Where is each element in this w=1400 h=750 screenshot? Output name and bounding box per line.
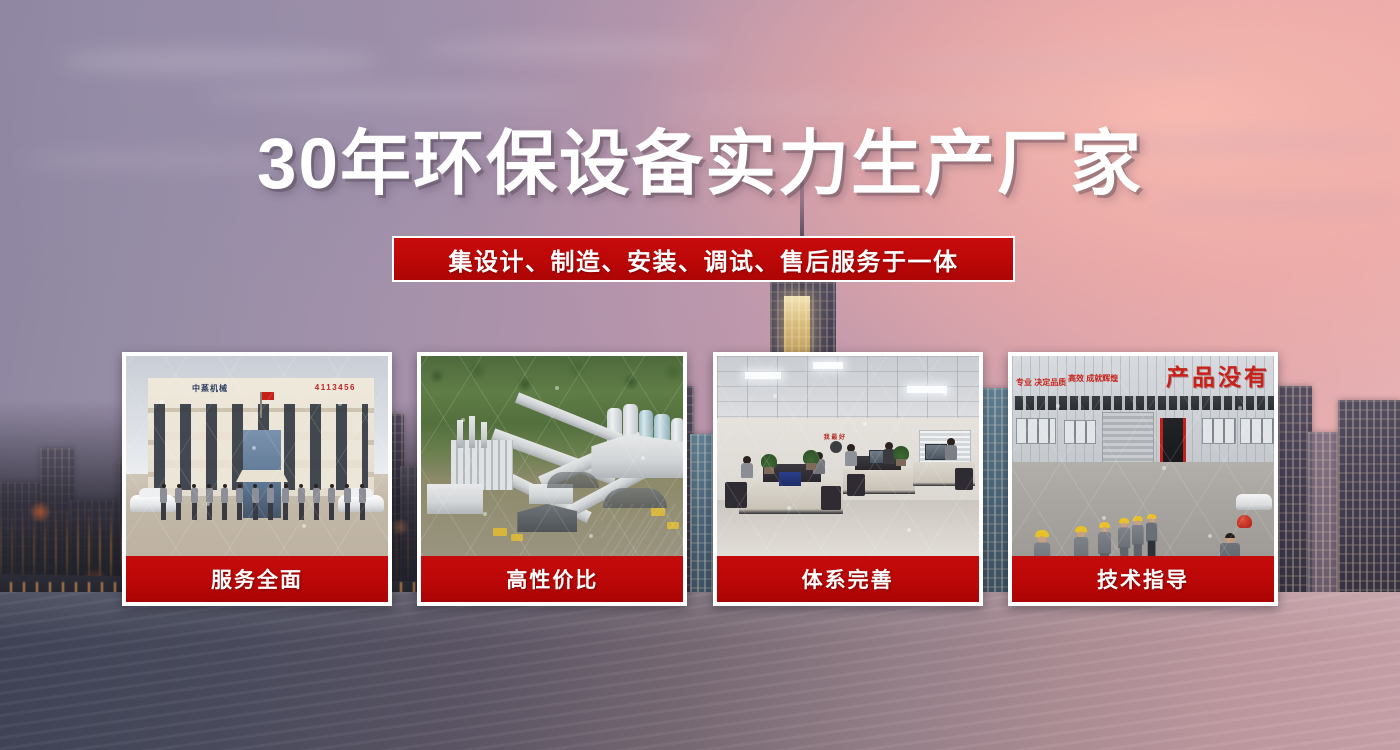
building-signage-text: 中蒸机械 <box>192 383 228 394</box>
subtitle-banner: 集设计、制造、安装、调试、售后服务于一体 <box>392 236 1015 282</box>
card-caption: 体系完善 <box>717 556 979 602</box>
card-caption: 高性价比 <box>421 556 683 602</box>
factory-slogan-right: 高效 成就辉煌 <box>1068 374 1118 384</box>
wall-logo-text: 我 最 好 <box>824 432 845 441</box>
office-interior-photo: 我 最 好 <box>717 356 979 556</box>
page-title: 30年环保设备实力生产厂家 <box>0 126 1400 204</box>
card-caption: 技术指导 <box>1012 556 1274 602</box>
factory-worker-training-photo: 产品没有 专业 决定品质 高效 成就辉煌 <box>1012 356 1274 556</box>
feature-card[interactable]: 产品没有 专业 决定品质 高效 成就辉煌 <box>1008 352 1278 606</box>
feature-card[interactable]: 高性价比 <box>417 352 687 606</box>
promo-banner: 30年环保设备实力生产厂家 集设计、制造、安装、调试、售后服务于一体 中蒸机械 <box>0 0 1400 750</box>
red-hard-hat <box>1237 515 1252 528</box>
building-phone-text: 4113456 <box>315 383 356 392</box>
card-caption: 服务全面 <box>126 556 388 602</box>
aerial-industrial-plant-photo <box>421 356 683 556</box>
subtitle-text: 集设计、制造、安装、调试、售后服务于一体 <box>449 242 959 277</box>
river-water <box>0 592 1400 750</box>
factory-signage-text: 产品没有 <box>1166 358 1270 392</box>
feature-card[interactable]: 我 最 好 <box>713 352 983 606</box>
company-headquarters-photo: 中蒸机械 4113456 <box>126 356 388 556</box>
factory-slogan-left: 专业 决定品质 <box>1016 378 1066 388</box>
feature-card[interactable]: 中蒸机械 4113456 <box>122 352 392 606</box>
feature-card-row: 中蒸机械 4113456 <box>122 352 1278 606</box>
